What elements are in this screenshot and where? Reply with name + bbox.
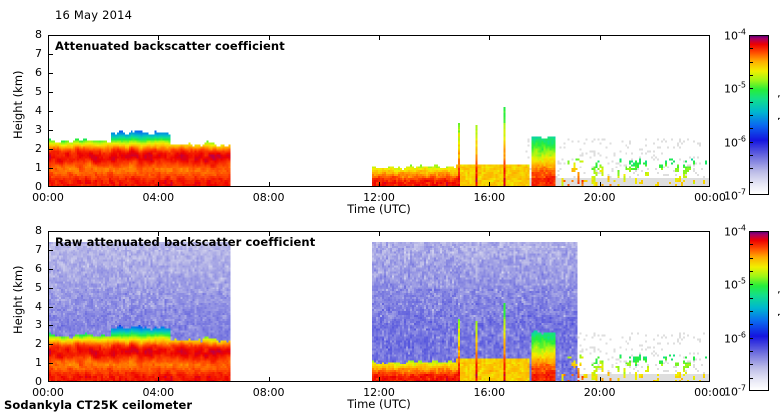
y-tick-mark (48, 344, 53, 345)
y-tick-label: 1 (16, 161, 42, 174)
ceilometer-figure: 16 May 2014 Attenuated backscatter coeff… (0, 0, 780, 420)
colorbar-tick-mark (749, 182, 753, 183)
x-tick-mark (600, 231, 601, 236)
x-tick-mark (600, 182, 601, 187)
colorbar-tick-label: 10-6 (724, 330, 746, 345)
colorbar-tick-mark (749, 311, 753, 312)
x-tick-label: 00:00 (32, 191, 64, 204)
colorbar-tick-mark (749, 62, 753, 63)
x-tick-mark (379, 182, 380, 187)
colorbar-tick-mark (749, 128, 753, 129)
y-tick-mark (48, 307, 53, 308)
y-tick-label: 8 (16, 28, 42, 41)
colorbar-ticks-top: 10-410-510-610-7 (712, 35, 746, 195)
heatmap-top (49, 36, 709, 186)
x-tick-mark (379, 35, 380, 40)
colorbar-tickmarks-top (749, 35, 753, 195)
colorbar-tickmarks-bottom (749, 231, 753, 391)
x-tick-mark (269, 377, 270, 382)
y-tick-mark (48, 149, 53, 150)
y-tick-mark (48, 92, 53, 93)
colorbar-ticks-bottom: 10-410-510-610-7 (712, 231, 746, 391)
colorbar-tick-mark (749, 168, 753, 169)
x-tick-label: 04:00 (142, 191, 174, 204)
y-tick-mark (48, 111, 53, 112)
colorbar-tick-mark (749, 351, 753, 352)
x-tick-mark (600, 35, 601, 40)
y-tick-label: 7 (16, 243, 42, 256)
y-tick-label: 1 (16, 356, 42, 369)
colorbar-tick-label: 10-6 (724, 134, 746, 149)
y-tick-mark (48, 269, 53, 270)
x-axis-label-top: Time (UTC) (347, 202, 411, 216)
x-tick-label: 08:00 (253, 386, 285, 399)
colorbar-tick-mark (749, 244, 753, 245)
colorbar-tick-mark (749, 298, 753, 299)
colorbar-tick-label: 10-7 (724, 384, 746, 399)
colorbar-tick-mark (749, 258, 753, 259)
x-tick-mark (379, 377, 380, 382)
y-tick-label: 7 (16, 47, 42, 60)
x-tick-mark (158, 377, 159, 382)
colorbar-tick-mark (749, 48, 753, 49)
x-tick-label: 16:00 (473, 386, 505, 399)
colorbar-tick-mark (749, 364, 753, 365)
y-tick-mark (48, 288, 53, 289)
y-tick-mark (48, 168, 53, 169)
colorbar-tick-label: 10-4 (724, 224, 746, 239)
colorbar-tick-label: 10-5 (724, 81, 746, 96)
colorbar-tick-mark (749, 284, 753, 285)
heatmap-bottom (49, 232, 709, 381)
y-tick-mark (48, 250, 53, 251)
y-axis-label-bottom: Height (km) (11, 265, 25, 334)
panel-label-bottom: Raw attenuated backscatter coefficient (55, 235, 315, 249)
colorbar-tick-mark (749, 155, 753, 156)
y-tick-label: 2 (16, 142, 42, 155)
colorbar-tick-mark (749, 378, 753, 379)
panel-label-top: Attenuated backscatter coefficient (55, 39, 285, 53)
x-tick-mark (489, 35, 490, 40)
colorbar-tick-mark (749, 115, 753, 116)
colorbar-tick-label: 10-4 (724, 28, 746, 43)
colorbar-tick-mark (749, 271, 753, 272)
x-tick-mark (269, 182, 270, 187)
x-tick-mark (600, 377, 601, 382)
y-tick-mark (48, 363, 53, 364)
colorbar-tick-mark (749, 102, 753, 103)
y-tick-mark (48, 381, 53, 382)
colorbar-tick-mark (749, 88, 753, 89)
y-tick-label: 2 (16, 337, 42, 350)
colorbar-tick-mark (749, 338, 753, 339)
y-tick-label: 8 (16, 224, 42, 237)
y-tick-mark (48, 73, 53, 74)
y-tickmarks-top (48, 35, 53, 187)
x-tick-mark (158, 182, 159, 187)
y-tick-mark (48, 54, 53, 55)
x-axis-label-bottom: Time (UTC) (347, 397, 411, 411)
colorbar-tick-mark (749, 142, 753, 143)
colorbar-tick-label: 10-5 (724, 277, 746, 292)
y-tickmarks-bottom (48, 231, 53, 382)
colorbar-tick-mark (749, 75, 753, 76)
x-tick-label: 20:00 (584, 386, 616, 399)
y-tick-mark (48, 325, 53, 326)
station-caption: Sodankyla CT25K ceilometer (4, 398, 192, 412)
y-tick-mark (48, 130, 53, 131)
panel-raw-attenuated-backscatter: Raw attenuated backscatter coefficient (48, 231, 710, 382)
y-axis-label-top: Height (km) (11, 70, 25, 139)
date-title: 16 May 2014 (55, 8, 132, 22)
x-tick-mark (379, 231, 380, 236)
y-tick-mark (48, 186, 53, 187)
x-tick-label: 08:00 (253, 191, 285, 204)
x-tick-mark (489, 377, 490, 382)
colorbar-tick-label: 10-7 (724, 188, 746, 203)
x-tick-mark (489, 231, 490, 236)
colorbar-tick-mark (749, 324, 753, 325)
x-tick-label: 20:00 (584, 191, 616, 204)
panel-attenuated-backscatter: Attenuated backscatter coefficient (48, 35, 710, 187)
x-tick-label: 16:00 (473, 191, 505, 204)
x-tick-mark (489, 182, 490, 187)
